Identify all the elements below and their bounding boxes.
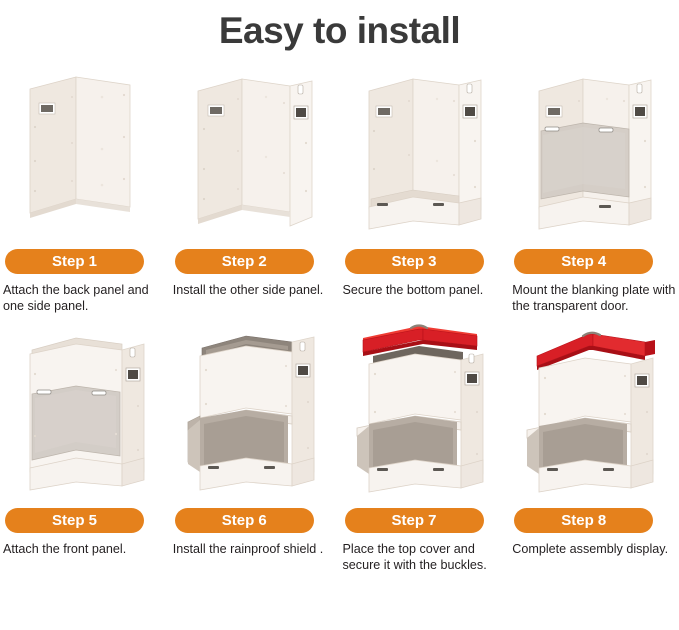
steps-row-top: Step 1 Attach the back panel and one sid… [0,57,679,314]
completed-feeder-red-lid-closed-icon [527,333,655,492]
step-illustration-4 [509,57,679,239]
red-top-cover-open-icon [357,326,483,493]
step-badge-7: Step 7 [345,508,484,533]
page-title: Easy to install [0,0,679,57]
step-badge-8: Step 8 [514,508,653,533]
step-card-5: Step 5 Attach the front panel. [0,314,170,573]
step-caption-5: Attach the front panel. [3,541,168,557]
step-illustration-5 [0,314,170,500]
step-caption-6: Install the rainproof shield . [173,541,338,557]
step-badge-5: Step 5 [5,508,144,533]
step-illustration-7 [340,314,510,500]
front-panel-attached-icon [30,338,144,490]
rainproof-shield-awning-icon [188,336,314,490]
step-caption-3: Secure the bottom panel. [343,282,508,298]
step-illustration-8 [509,314,679,500]
step-caption-1: Attach the back panel and one side panel… [3,282,168,314]
step-badge-3: Step 3 [345,249,484,274]
steps-grid: Step 1 Attach the back panel and one sid… [0,57,679,573]
step-badge-1: Step 1 [5,249,144,274]
step-card-2: Step 2 Install the other side panel. [170,57,340,314]
step-illustration-3 [340,57,510,239]
step-card-1: Step 1 Attach the back panel and one sid… [0,57,170,314]
panels-with-bottom-base-icon [369,79,481,229]
step-badge-4: Step 4 [514,249,653,274]
step-card-7: Step 7 Place the top cover and secure it… [340,314,510,573]
blanking-plate-transparent-door-icon [539,79,651,229]
back-panel-and-one-side-panel-icon [30,77,130,218]
step-card-8: Step 8 Complete assembly display. [509,314,679,573]
step-caption-4: Mount the blanking plate with the transp… [512,282,677,314]
three-panels-u-shape-icon [198,79,312,226]
steps-row-bottom: Step 5 Attach the front panel. [0,314,679,573]
step-card-4: Step 4 Mount the blanking plate with the… [509,57,679,314]
step-card-3: Step 3 Secure the bottom panel. [340,57,510,314]
step-card-6: Step 6 Install the rainproof shield . [170,314,340,573]
step-illustration-6 [170,314,340,500]
step-badge-6: Step 6 [175,508,314,533]
step-illustration-1 [0,57,170,239]
step-caption-8: Complete assembly display. [512,541,677,557]
step-caption-2: Install the other side panel. [173,282,338,298]
step-illustration-2 [170,57,340,239]
step-badge-2: Step 2 [175,249,314,274]
step-caption-7: Place the top cover and secure it with t… [343,541,508,573]
